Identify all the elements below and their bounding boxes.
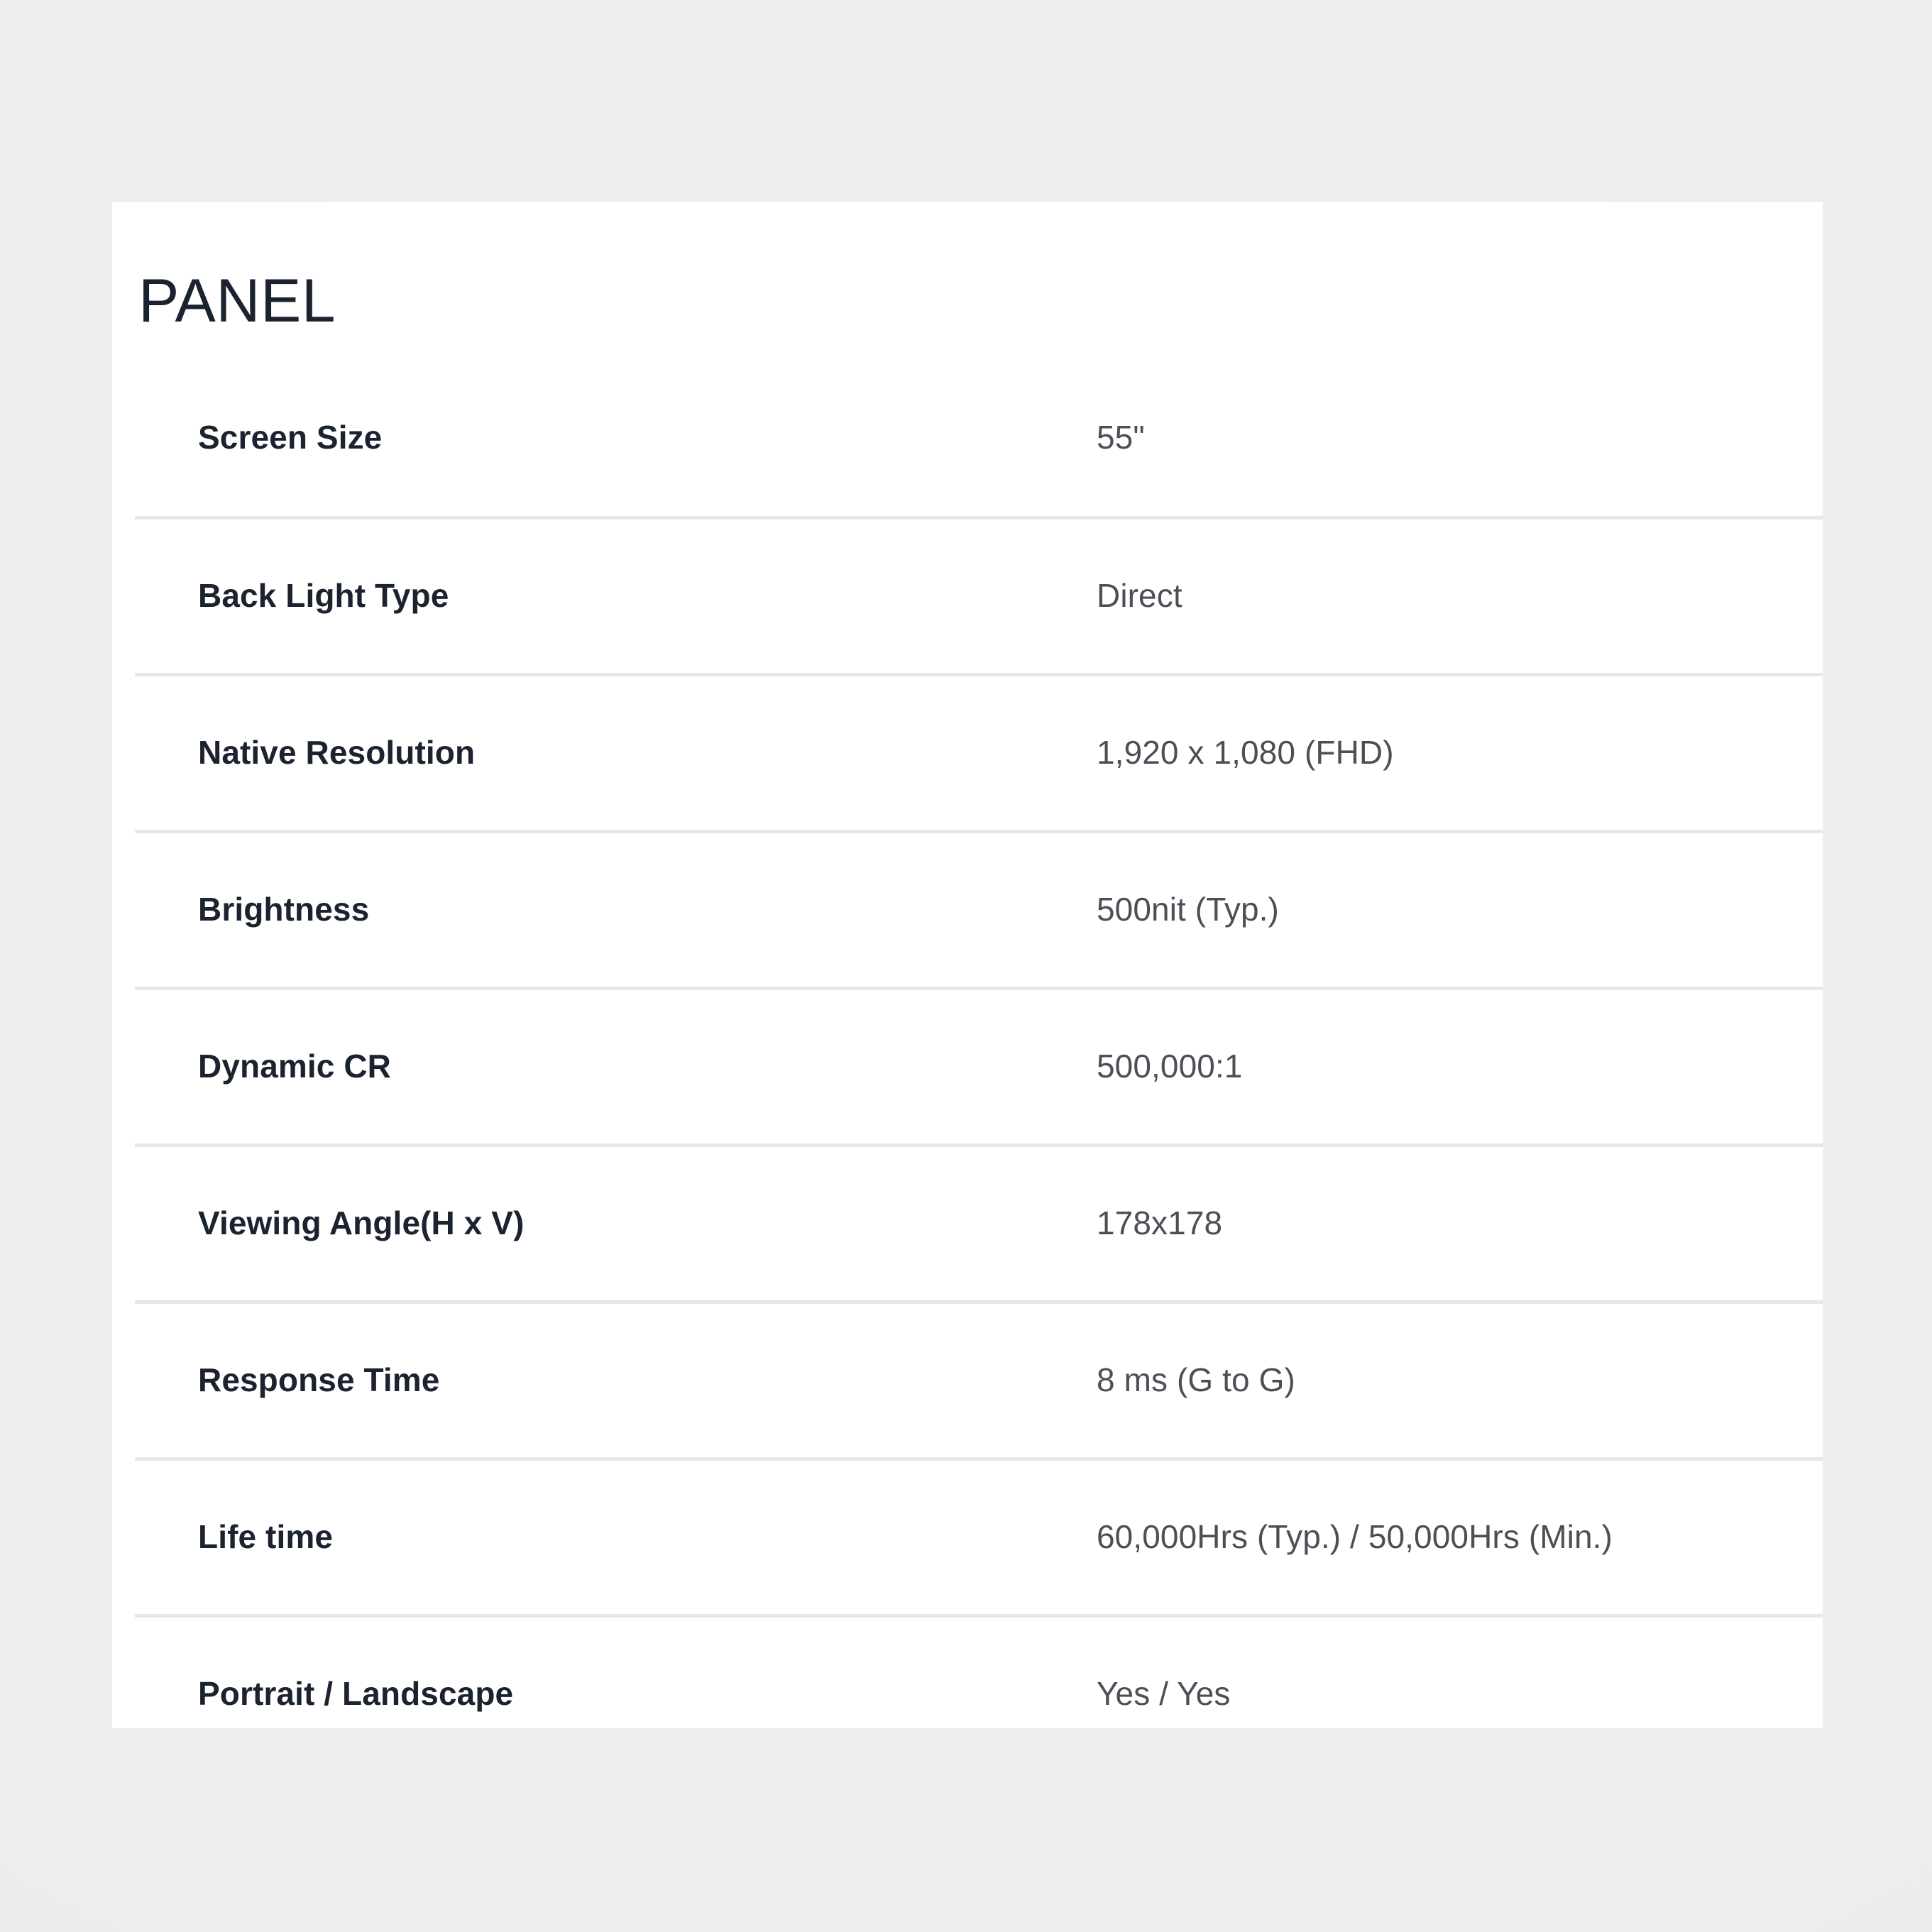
spec-value: 500,000:1 — [1097, 1047, 1243, 1085]
spec-label: Life time — [198, 1517, 333, 1556]
table-row: Screen Size55" — [135, 359, 1823, 516]
table-row: Native Resolution1,920 x 1,080 (FHD) — [135, 673, 1823, 830]
spec-label: Back Light Type — [198, 576, 449, 615]
table-row: Dynamic CR500,000:1 — [135, 987, 1823, 1143]
spec-value: 8 ms (G to G) — [1097, 1361, 1295, 1399]
spec-table: Screen Size55"Back Light TypeDirectNativ… — [135, 359, 1823, 1771]
spec-label: Dynamic CR — [198, 1047, 391, 1085]
panel-spec-card: PANEL Screen Size55"Back Light TypeDirec… — [112, 202, 1823, 1728]
table-row: Response Time8 ms (G to G) — [135, 1300, 1823, 1457]
spec-label: Native Resolution — [198, 733, 475, 772]
spec-label: Response Time — [198, 1361, 439, 1399]
spec-label: Viewing Angle(H x V) — [198, 1204, 525, 1242]
spec-label: Brightness — [198, 890, 369, 928]
table-row: Portrait / LandscapeYes / Yes — [135, 1614, 1823, 1771]
spec-value: 500nit (Typ.) — [1097, 890, 1279, 928]
table-row: Life time60,000Hrs (Typ.) / 50,000Hrs (M… — [135, 1457, 1823, 1614]
spec-label: Portrait / Landscape — [198, 1674, 513, 1713]
page-root: PANEL Screen Size55"Back Light TypeDirec… — [0, 0, 1932, 1932]
spec-value: 178x178 — [1097, 1204, 1222, 1242]
spec-value: Direct — [1097, 576, 1182, 615]
table-row: Viewing Angle(H x V)178x178 — [135, 1143, 1823, 1300]
table-row: Back Light TypeDirect — [135, 516, 1823, 673]
page-title: PANEL — [138, 270, 336, 331]
spec-value: Yes / Yes — [1097, 1674, 1231, 1713]
spec-value: 60,000Hrs (Typ.) / 50,000Hrs (Min.) — [1097, 1517, 1613, 1556]
spec-value: 55" — [1097, 417, 1145, 456]
spec-label: Screen Size — [198, 417, 382, 456]
spec-value: 1,920 x 1,080 (FHD) — [1097, 733, 1394, 772]
table-row: Brightness500nit (Typ.) — [135, 830, 1823, 987]
